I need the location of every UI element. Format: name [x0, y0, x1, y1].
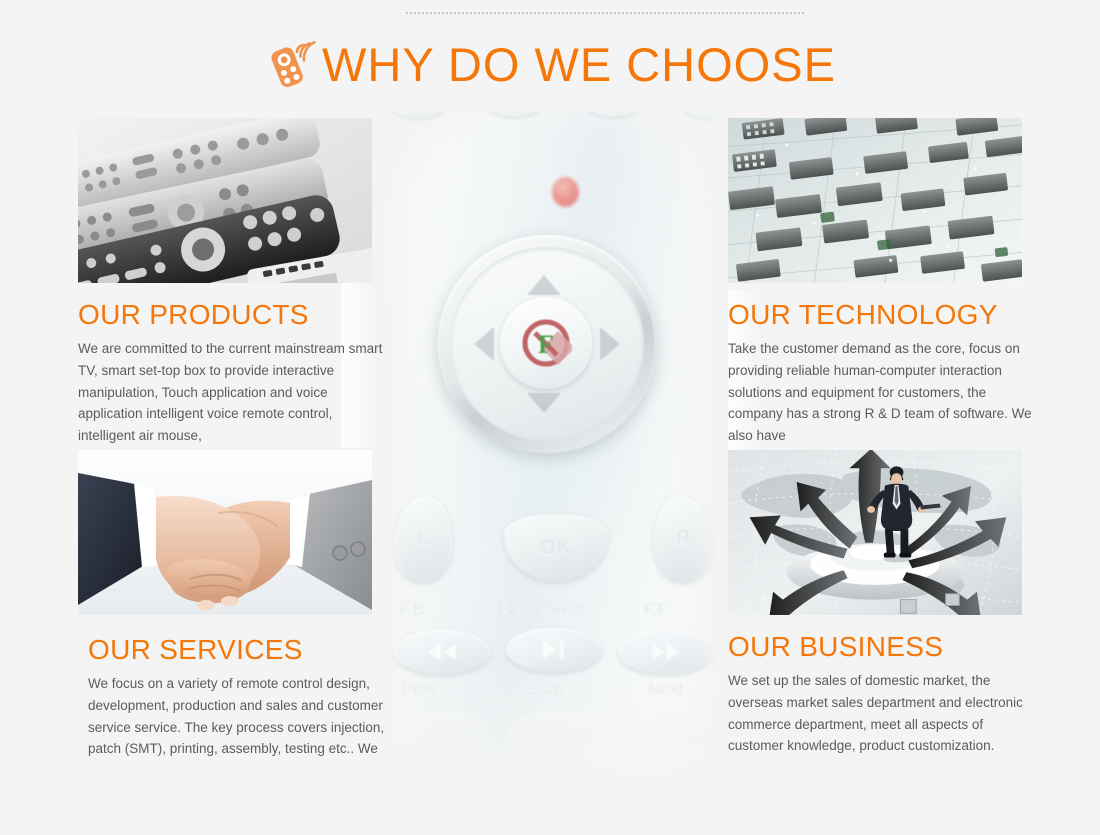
remote-body: SET AV SVCD TV F	[386, 112, 716, 792]
label-stop: Stop	[528, 680, 563, 700]
brand-logo-icon: F	[520, 317, 572, 369]
page-title: WHY DO WE CHOOSE	[322, 41, 836, 88]
card-our-technology: OUR TECHNOLOGY Take the customer demand …	[728, 118, 1028, 447]
section-header: WHY DO WE CHOOSE	[0, 38, 1100, 90]
remote-button-prev	[396, 712, 486, 752]
handshake-illustration	[78, 450, 372, 615]
stacked-remotes-illustration	[78, 118, 372, 283]
why-do-we-choose-section: WHY DO WE CHOOSE SET AV SVCD TV	[0, 0, 1100, 835]
remote-button-extra	[508, 774, 598, 792]
card-body-services: We focus on a variety of remote control …	[88, 673, 393, 760]
products-thumbnail	[78, 118, 372, 283]
dpad-left-arrow-icon	[474, 327, 494, 361]
remote-button-next	[620, 712, 710, 752]
card-title-services: OUR SERVICES	[88, 635, 378, 666]
dpad-up-arrow-icon	[527, 275, 561, 295]
remote-control-hero-image: SET AV SVCD TV F	[370, 112, 730, 792]
services-thumbnail	[78, 450, 372, 615]
dpad-down-arrow-icon	[527, 393, 561, 413]
label-next: Next	[648, 680, 683, 700]
remote-button-rewind	[394, 630, 490, 674]
card-body-technology: Take the customer demand as the core, fo…	[728, 338, 1033, 447]
top-dotted-divider	[405, 12, 805, 14]
label-fast-back: F.B	[400, 600, 425, 620]
remote-button-ok: OK	[504, 515, 608, 581]
card-body-business: We set up the sales of domestic market, …	[728, 670, 1033, 757]
remote-top-button-tv: TV	[682, 112, 730, 119]
card-our-products: OUR PRODUCTS We are committed to the cur…	[78, 118, 378, 447]
technology-thumbnail	[728, 118, 1022, 283]
card-title-technology: OUR TECHNOLOGY	[728, 300, 1028, 331]
infrared-led-icon	[552, 177, 579, 207]
remote-top-button-av: AV	[484, 112, 544, 117]
card-body-products: We are committed to the current mainstre…	[78, 338, 383, 447]
remote-button-right: R	[654, 497, 712, 581]
remote-control-signal-icon	[264, 38, 316, 90]
remote-dpad: F	[438, 235, 656, 453]
remote-button-fast-forward	[618, 630, 714, 674]
label-play-pause: Play/Pause	[498, 600, 584, 620]
circuit-board-illustration	[728, 118, 1022, 283]
dpad-right-arrow-icon	[600, 327, 620, 361]
label-fast-forward: F.F	[644, 600, 668, 620]
dpad-center-button: F	[500, 297, 592, 389]
card-our-services: OUR SERVICES We focus on a variety of re…	[78, 450, 378, 760]
card-our-business: OUR BUSINESS We set up the sales of dome…	[728, 450, 1028, 757]
svg-text:F: F	[538, 330, 554, 359]
label-prev: Prev	[402, 680, 437, 700]
remote-top-button-set: SET	[388, 112, 448, 118]
remote-top-button-svcd: SVCD	[584, 112, 644, 117]
remote-button-play-pause	[506, 628, 602, 672]
remote-button-stop	[508, 712, 598, 752]
remote-button-left: L	[394, 497, 452, 581]
business-thumbnail	[728, 450, 1022, 615]
card-title-products: OUR PRODUCTS	[78, 300, 378, 331]
global-business-illustration	[728, 450, 1022, 615]
card-title-business: OUR BUSINESS	[728, 632, 1028, 663]
